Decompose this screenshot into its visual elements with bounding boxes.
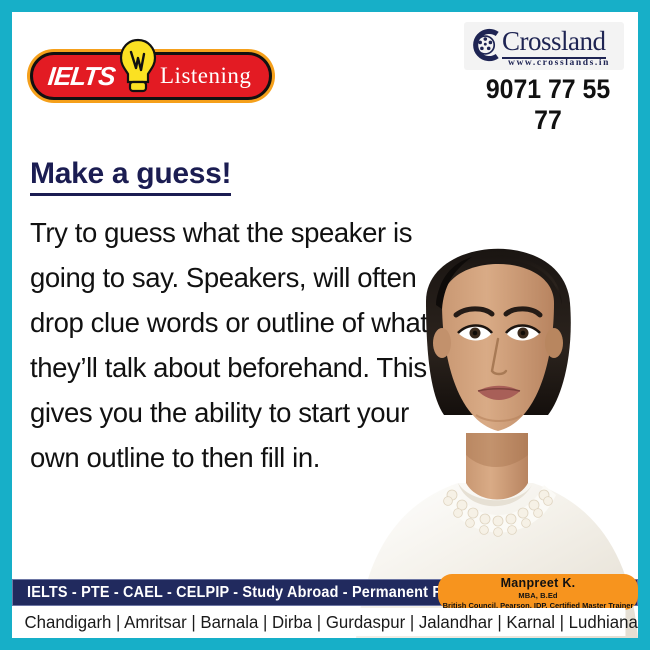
crossland-brand-logo[interactable]: Crossland www.crosslands.in bbox=[464, 22, 624, 70]
trainer-badge: Manpreet K. MBA, B.Ed British Council, P… bbox=[438, 574, 638, 610]
crossland-circle-icon bbox=[470, 28, 504, 62]
trainer-qualifications: MBA, B.Ed bbox=[438, 591, 638, 601]
page-title: Make a guess! bbox=[30, 157, 231, 196]
ielts-logo-secondary-text: Listening bbox=[160, 63, 251, 89]
phone-number[interactable]: 9071 77 55 77 bbox=[471, 74, 626, 136]
services-text: IELTS - PTE - CAEL - CELPIP - Study Abro… bbox=[27, 584, 506, 602]
poster-canvas: IELTS Listening bbox=[12, 12, 638, 638]
ielts-logo-primary-text: IELTS bbox=[46, 61, 116, 92]
crossland-name: Crossland bbox=[502, 26, 606, 59]
cities-list: Chandigarh | Amritsar | Barnala | Dirba … bbox=[25, 608, 626, 636]
lightbulb-icon bbox=[118, 38, 158, 100]
portrait-illustration bbox=[348, 183, 638, 638]
trainer-name: Manpreet K. bbox=[438, 576, 638, 591]
poster-root: IELTS Listening bbox=[0, 0, 650, 650]
trainer-portrait bbox=[348, 183, 638, 638]
crossland-website: www.crosslands.in bbox=[508, 58, 610, 68]
header: IELTS Listening bbox=[12, 12, 638, 120]
ielts-listening-logo: IELTS Listening bbox=[30, 52, 272, 100]
